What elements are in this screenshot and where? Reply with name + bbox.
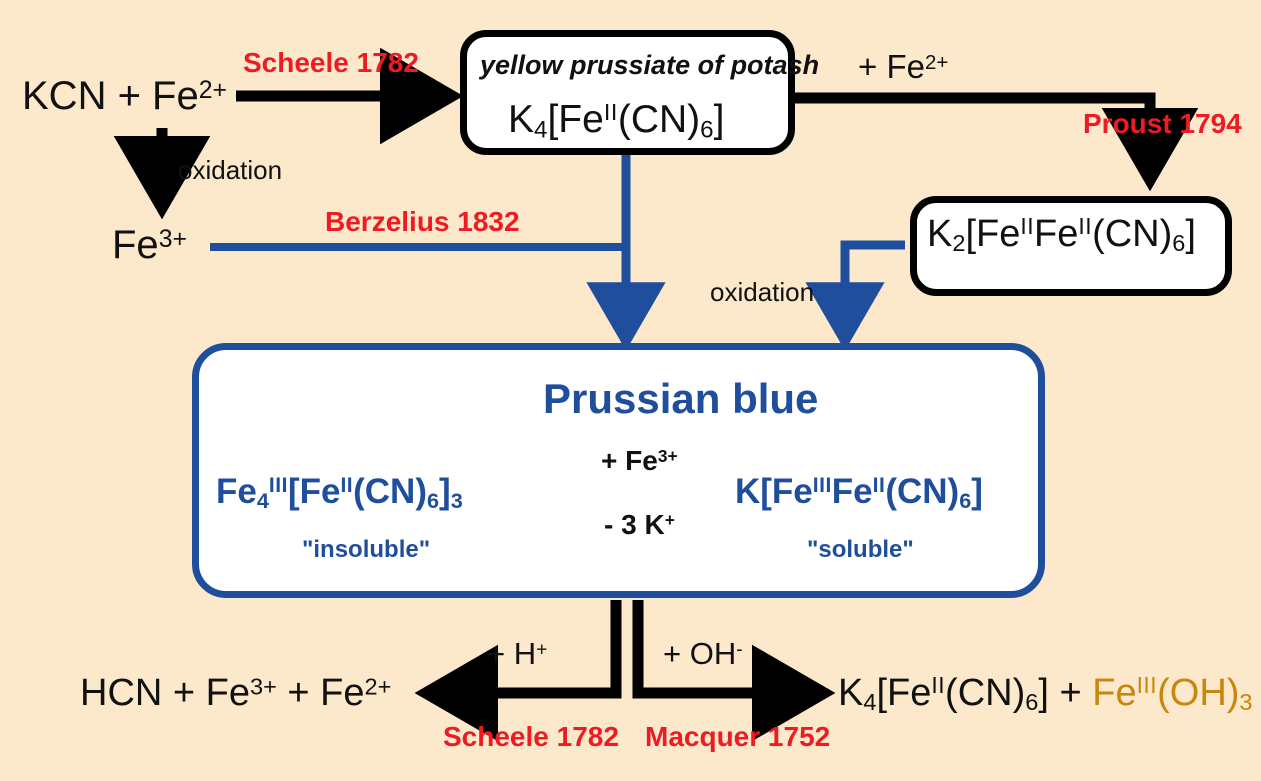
label-soluble-formula: K[FeIIIFeII(CN)6] [735,474,983,509]
label-prussian-blue-title: Prussian blue [543,378,818,420]
label-fe3plus: Fe3+ [112,225,187,265]
label-k4-ferrocyanide: K4[FeII(CN)6] [508,100,724,139]
label-plus-fe2plus: + Fe2+ [858,50,948,83]
label-reagents: KCN + Fe2+ [22,76,227,116]
label-berzelius-1832: Berzelius 1832 [325,208,520,236]
label-macquer-products: K4[FeII(CN)6] + FeIII(OH)3 [838,674,1253,712]
label-k2-complex: K2[FeIIFeII(CN)6] [927,215,1196,253]
label-soluble-caption: "soluble" [807,538,914,562]
label-yellow-prussiate: yellow prussiate of potash [480,52,819,79]
label-hcn-products: HCN + Fe3+ + Fe2+ [80,674,391,712]
label-iron-hydroxide: FeIII(OH)3 [1092,672,1252,714]
label-insoluble-caption: "insoluble" [302,538,430,562]
label-fe3plus-charge: 3+ [159,226,187,253]
label-reagents-text: KCN + Fe [22,74,199,118]
label-macquer-1752: Macquer 1752 [645,723,830,751]
label-minus-3k-inner: - 3 K+ [604,511,675,539]
label-proust-1794: Proust 1794 [1083,110,1242,138]
label-plus-hplus: + H+ [487,638,547,669]
label-oxidation-center: oxidation [710,279,814,305]
label-fe3plus-text: Fe [112,223,159,267]
diagram-canvas: top box --> KCN + Fe2+ Scheele 1782 oxid… [0,0,1261,781]
label-insoluble-formula: Fe4III[FeII(CN)6]3 [216,474,463,509]
label-plus-fe3plus-inner: + Fe3+ [601,447,678,475]
label-scheele-1782-top: Scheele 1782 [243,49,419,77]
label-reagents-charge: 2+ [199,77,227,104]
label-oxidation-left: oxidation [178,157,282,183]
label-scheele-1782-bottom: Scheele 1782 [443,723,619,751]
arrow-oxidation-center [845,245,905,338]
label-plus-ohminus: + OH- [663,638,743,669]
